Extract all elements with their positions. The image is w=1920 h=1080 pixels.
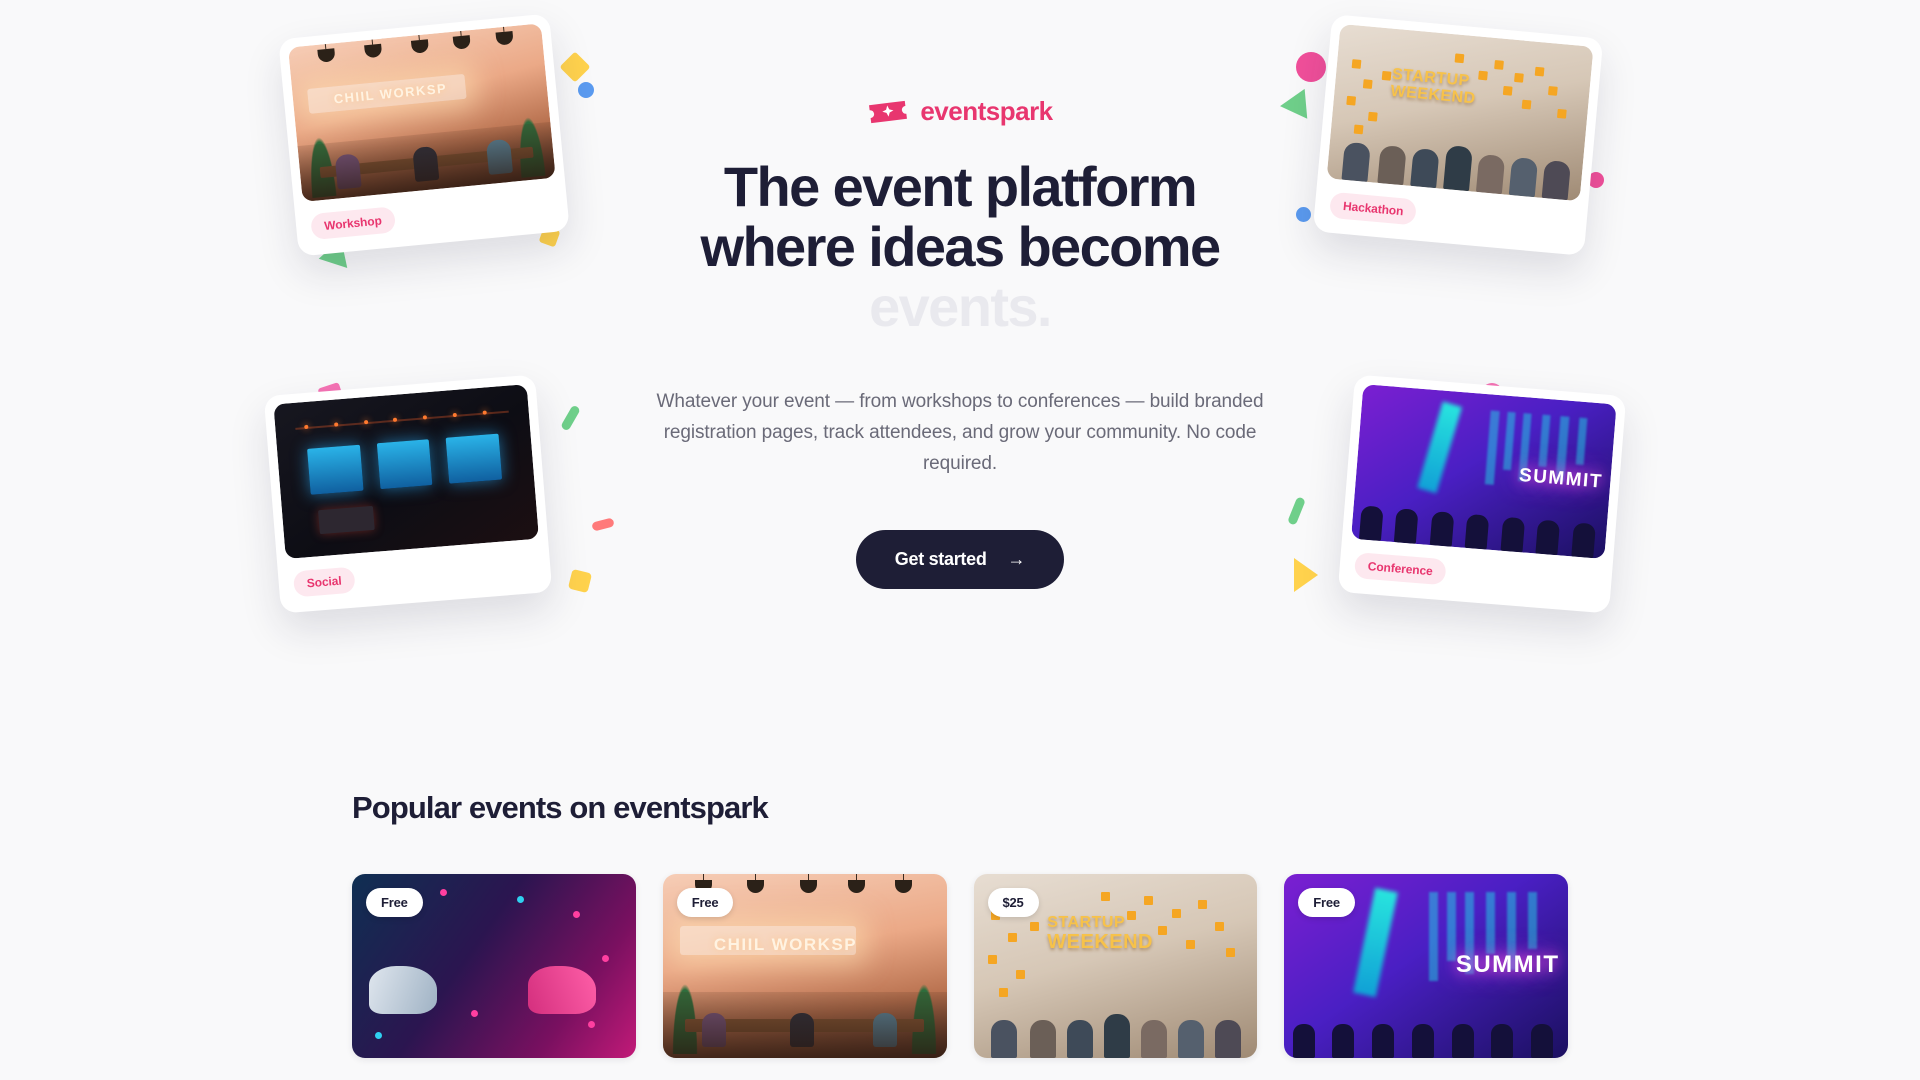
plant-left-icon [300, 115, 342, 198]
ticket-icon [867, 99, 909, 125]
price-badge: Free [677, 888, 734, 917]
headline-line-3: events. [869, 275, 1051, 338]
floating-card-social[interactable]: Social [264, 374, 553, 613]
event-card[interactable]: $25 STARTUP WEEKEND [974, 874, 1258, 1080]
monitor-screens [307, 433, 503, 495]
robot-hand-left-icon [369, 966, 437, 1014]
workshop-photo: CHIIL WORKSP [288, 23, 556, 202]
landing-page: CHIIL WORKSP Workshop [0, 0, 1920, 1080]
event-card[interactable]: Free SUMMIT SAT, APR 19 Kilgo media summ… [1284, 874, 1568, 1080]
events-grid: Free SAT [352, 874, 1568, 1080]
get-started-label: Get started [895, 549, 987, 570]
category-chip-workshop: Workshop [310, 206, 396, 240]
hero-section: CHIIL WORKSP Workshop [0, 0, 1920, 700]
decor-blue-circle-right [1296, 207, 1311, 222]
desk [685, 1019, 923, 1032]
category-chip-hackathon: Hackathon [1329, 192, 1417, 226]
event-card[interactable]: Free SAT [352, 874, 636, 1080]
conference-photo-art: SUMMIT [1351, 384, 1617, 559]
event-card[interactable]: Free CHIIL WORKSP THU, APR 3 Chill works… [663, 874, 947, 1080]
decor-yellow-diamond [559, 51, 590, 82]
event-thumbnail: $25 STARTUP WEEKEND [974, 874, 1258, 1058]
hackathon-photo: STARTUP WEEKEND [1327, 24, 1594, 201]
category-chip-social: Social [293, 567, 356, 598]
get-started-button[interactable]: Get started → [856, 530, 1064, 589]
decor-yellow-square-social [568, 569, 592, 593]
string-lights [296, 410, 509, 429]
popular-events-section: Popular events on eventspark Free [0, 700, 1920, 1080]
price-badge: Free [366, 888, 423, 917]
decor-yellow-triangle-conf [1294, 558, 1318, 592]
section-title: Popular events on eventspark [352, 700, 1568, 826]
headline-line-1: The event platform [724, 155, 1196, 218]
hero-subhead: Whatever your event — from workshops to … [650, 387, 1270, 480]
price-badge: Free [1298, 888, 1355, 917]
social-photo [273, 384, 539, 559]
desk [320, 147, 533, 178]
workshop-wall-text: CHIIL WORKSP [714, 935, 857, 955]
decor-green-slash [560, 404, 581, 431]
people-group [663, 992, 947, 1047]
workshop-photo-art: CHIIL WORKSP [288, 23, 556, 202]
event-thumbnail: Free [352, 874, 636, 1058]
plant-right-icon [509, 95, 551, 178]
plant-right-icon [907, 959, 941, 1055]
hackathon-crowd [974, 973, 1258, 1058]
hackathon-wall-text: STARTUP WEEKEND [1047, 914, 1153, 952]
decor-magenta-circle [1296, 52, 1326, 82]
brand-logo[interactable]: eventspark [650, 96, 1270, 127]
conference-audience [1284, 977, 1568, 1058]
plant-left-icon [668, 959, 702, 1055]
event-thumbnail: Free CHIIL WORKSP [663, 874, 947, 1058]
floating-card-conference[interactable]: SUMMIT Conference [1338, 374, 1627, 613]
hackathon-wall-line2: WEEKEND [1047, 932, 1153, 952]
category-chip-conference: Conference [1354, 552, 1447, 585]
floating-card-hackathon[interactable]: STARTUP WEEKEND Hackathon [1313, 14, 1604, 256]
hackathon-photo-art: STARTUP WEEKEND [1327, 24, 1594, 201]
robot-hand-right-icon [528, 966, 596, 1014]
brand-name: eventspark [920, 96, 1052, 127]
headline-line-2: where ideas become [700, 215, 1219, 278]
price-badge: $25 [988, 888, 1039, 917]
conference-stage-text: SUMMIT [1456, 951, 1560, 979]
event-thumbnail: Free SUMMIT [1284, 874, 1568, 1058]
decor-blue-circle [578, 82, 594, 98]
hero-content: eventspark The event platform where idea… [650, 96, 1270, 589]
social-photo-art [273, 384, 539, 559]
conference-photo: SUMMIT [1351, 384, 1617, 559]
decor-green-triangle-right [1279, 89, 1308, 121]
decor-green-slash-conf [1287, 496, 1306, 525]
decor-coral-slash [591, 517, 615, 531]
page-title: The event platform where ideas become ev… [650, 157, 1270, 337]
hackathon-wall-line1: STARTUP [1047, 915, 1153, 931]
floating-card-workshop[interactable]: CHIIL WORKSP Workshop [278, 13, 570, 256]
laptop [318, 505, 376, 534]
arrow-right-icon: → [1008, 550, 1026, 568]
